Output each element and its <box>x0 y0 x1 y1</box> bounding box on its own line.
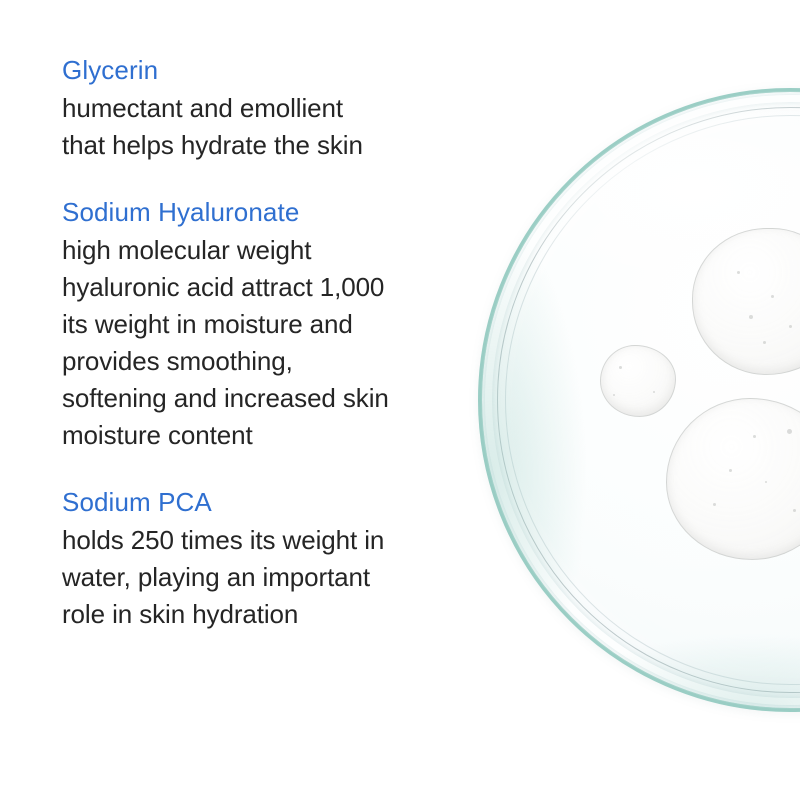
ingredient-block-sodium-pca: Sodium PCA holds 250 times its weight in… <box>62 484 482 633</box>
ingredient-block-glycerin: Glycerin humectant and emollient that he… <box>62 52 482 164</box>
product-ingredient-graphic: Glycerin humectant and emollient that he… <box>0 0 800 800</box>
droplet-speck <box>787 429 792 434</box>
droplet-speck <box>619 366 622 369</box>
ingredient-description-glycerin: humectant and emollient that helps hydra… <box>62 90 482 164</box>
droplet-speck <box>765 481 767 483</box>
droplet-speck <box>737 271 740 274</box>
droplet-speck <box>713 503 716 506</box>
droplet-speck <box>653 391 655 393</box>
droplet-speck <box>729 469 732 472</box>
droplet-speck <box>613 394 615 396</box>
droplet-speck <box>763 341 766 344</box>
droplet-speck <box>771 295 774 298</box>
ingredient-list: Glycerin humectant and emollient that he… <box>62 52 482 633</box>
ingredient-name-glycerin: Glycerin <box>62 52 482 89</box>
ingredient-description-sodium-pca: holds 250 times its weight in water, pla… <box>62 522 482 633</box>
droplet-speck <box>749 315 753 319</box>
gel-droplet-small <box>600 345 676 417</box>
petri-dish-photo <box>460 0 800 800</box>
droplet-speck <box>789 325 792 328</box>
ingredient-block-sodium-hyaluronate: Sodium Hyaluronate high molecular weight… <box>62 194 482 454</box>
ingredient-description-sodium-hyaluronate: high molecular weight hyaluronic acid at… <box>62 232 482 454</box>
droplet-speck <box>753 435 756 438</box>
droplet-speck <box>793 509 796 512</box>
ingredient-name-sodium-hyaluronate: Sodium Hyaluronate <box>62 194 482 231</box>
ingredient-name-sodium-pca: Sodium PCA <box>62 484 482 521</box>
